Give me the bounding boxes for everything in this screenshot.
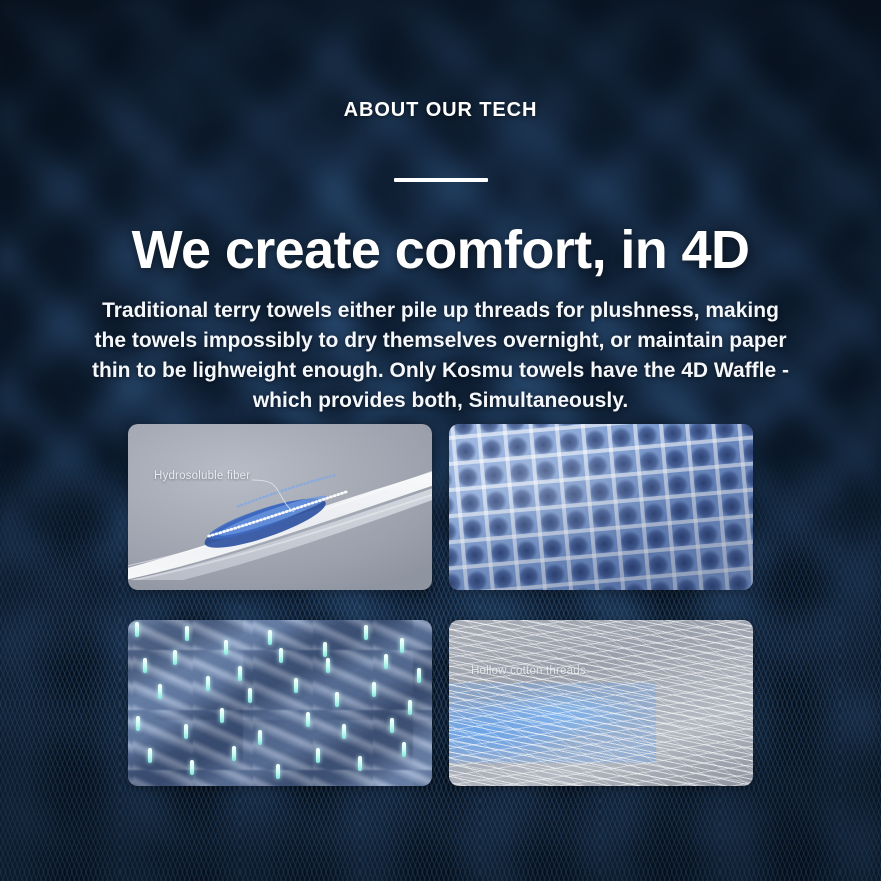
gallery-tile-hollow-cotton-threads[interactable]: Hollow cotton threads: [449, 620, 753, 786]
waffle-shading-overlay: [449, 424, 753, 590]
cotton-fiber-texture: [449, 620, 753, 786]
section-content: ABOUT OUR TECH We create comfort, in 4D …: [0, 0, 881, 881]
gallery-tile-hydrosoluble-fiber[interactable]: Hydrosoluble fiber: [128, 424, 432, 590]
page-title: We create comfort, in 4D: [0, 219, 881, 281]
gallery-tile-fabric-flecks[interactable]: [128, 620, 432, 786]
section-divider: [394, 178, 488, 182]
about-our-tech-section: ABOUT OUR TECH We create comfort, in 4D …: [0, 0, 881, 881]
fiber-leader-line: [128, 424, 432, 590]
section-body-text: Traditional terry towels either pile up …: [88, 296, 793, 416]
weave-ridge-texture: [128, 620, 432, 786]
tech-image-gallery: Hydrosoluble fiber: [128, 424, 753, 786]
hollow-cotton-threads-label: Hollow cotton threads: [471, 665, 586, 677]
hydrosoluble-fiber-label: Hydrosoluble fiber: [154, 470, 250, 482]
gallery-tile-waffle-weave[interactable]: [449, 424, 753, 590]
section-eyebrow: ABOUT OUR TECH: [0, 99, 881, 122]
